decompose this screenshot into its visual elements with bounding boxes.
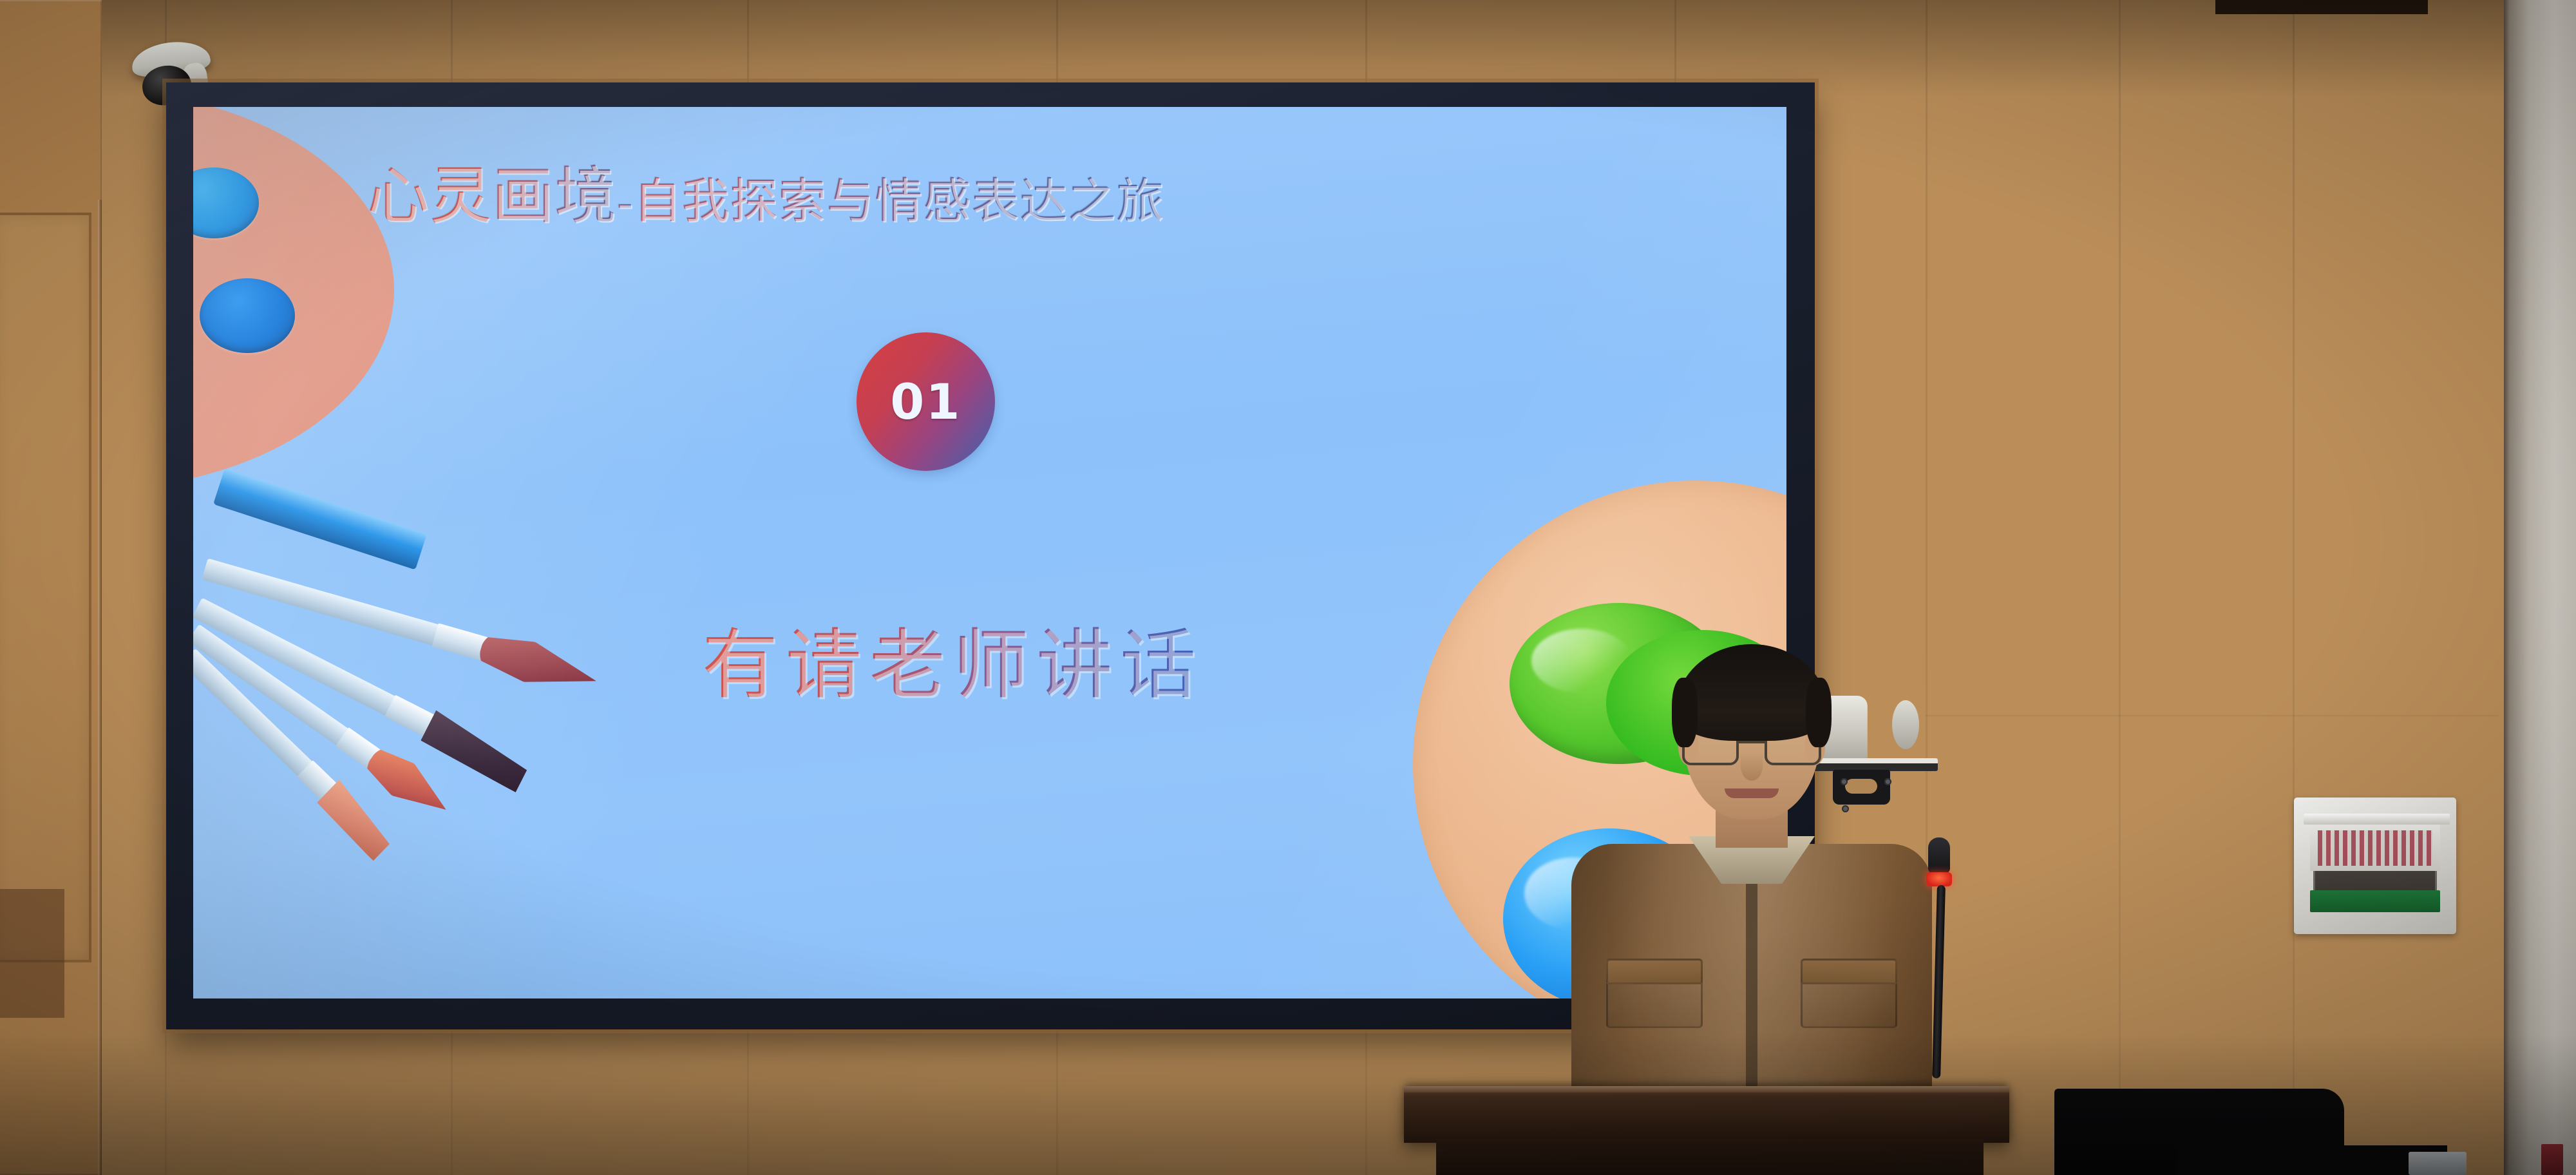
- floor-shadow: [0, 1033, 2576, 1175]
- jacket-pocket-left: [1606, 959, 1703, 1028]
- paint-palette-left: [193, 107, 394, 490]
- wall-plank-seam: [2293, 0, 2295, 1175]
- slide-title: 心灵画境-自我探索与情感表达之旅: [367, 146, 1164, 235]
- presenter-nose: [1741, 752, 1763, 781]
- presenter-mouth: [1725, 788, 1779, 798]
- paint-tube-blue: [213, 468, 427, 569]
- brush-tip: [419, 707, 534, 792]
- brush-tip: [361, 741, 457, 826]
- side-wall: [2504, 0, 2576, 1175]
- badge-label: 01: [890, 373, 961, 430]
- wall-panel-lid: [2304, 814, 2450, 825]
- jacket-pocket-right: [1801, 959, 1897, 1028]
- door-panel-inset: [0, 213, 91, 962]
- palette-well-blue-1: [193, 167, 259, 238]
- door-shadow: [0, 889, 64, 1018]
- slide-title-sub: 自我探索与情感表达之旅: [633, 175, 1164, 228]
- wall-plank-seam: [2119, 0, 2121, 1175]
- wall-seam: [1926, 715, 2499, 716]
- slide-title-main: 心灵画境: [367, 162, 617, 231]
- presenter-hair: [1676, 644, 1828, 741]
- slide-sub-heading: 有请老师讲话: [702, 603, 1204, 713]
- microphone-head: [1928, 837, 1950, 874]
- palette-well-blue-2: [200, 278, 295, 353]
- glasses-bridge: [1739, 741, 1765, 743]
- microphone-indicator-led: [1926, 872, 1952, 886]
- brush-tip: [475, 628, 602, 701]
- presenter-head: [1683, 651, 1820, 819]
- wall-panel-breakers: [2310, 825, 2440, 871]
- conference-room: 心灵画境-自我探索与情感表达之旅 01 有请老师讲话: [0, 0, 2576, 1175]
- door-edge: [98, 200, 102, 1175]
- slide-title-separator: -: [617, 175, 634, 228]
- wall-panel-ground-bar: [2310, 890, 2440, 912]
- slide-badge-number: 01: [857, 332, 995, 471]
- wall-panel[interactable]: [2294, 798, 2456, 934]
